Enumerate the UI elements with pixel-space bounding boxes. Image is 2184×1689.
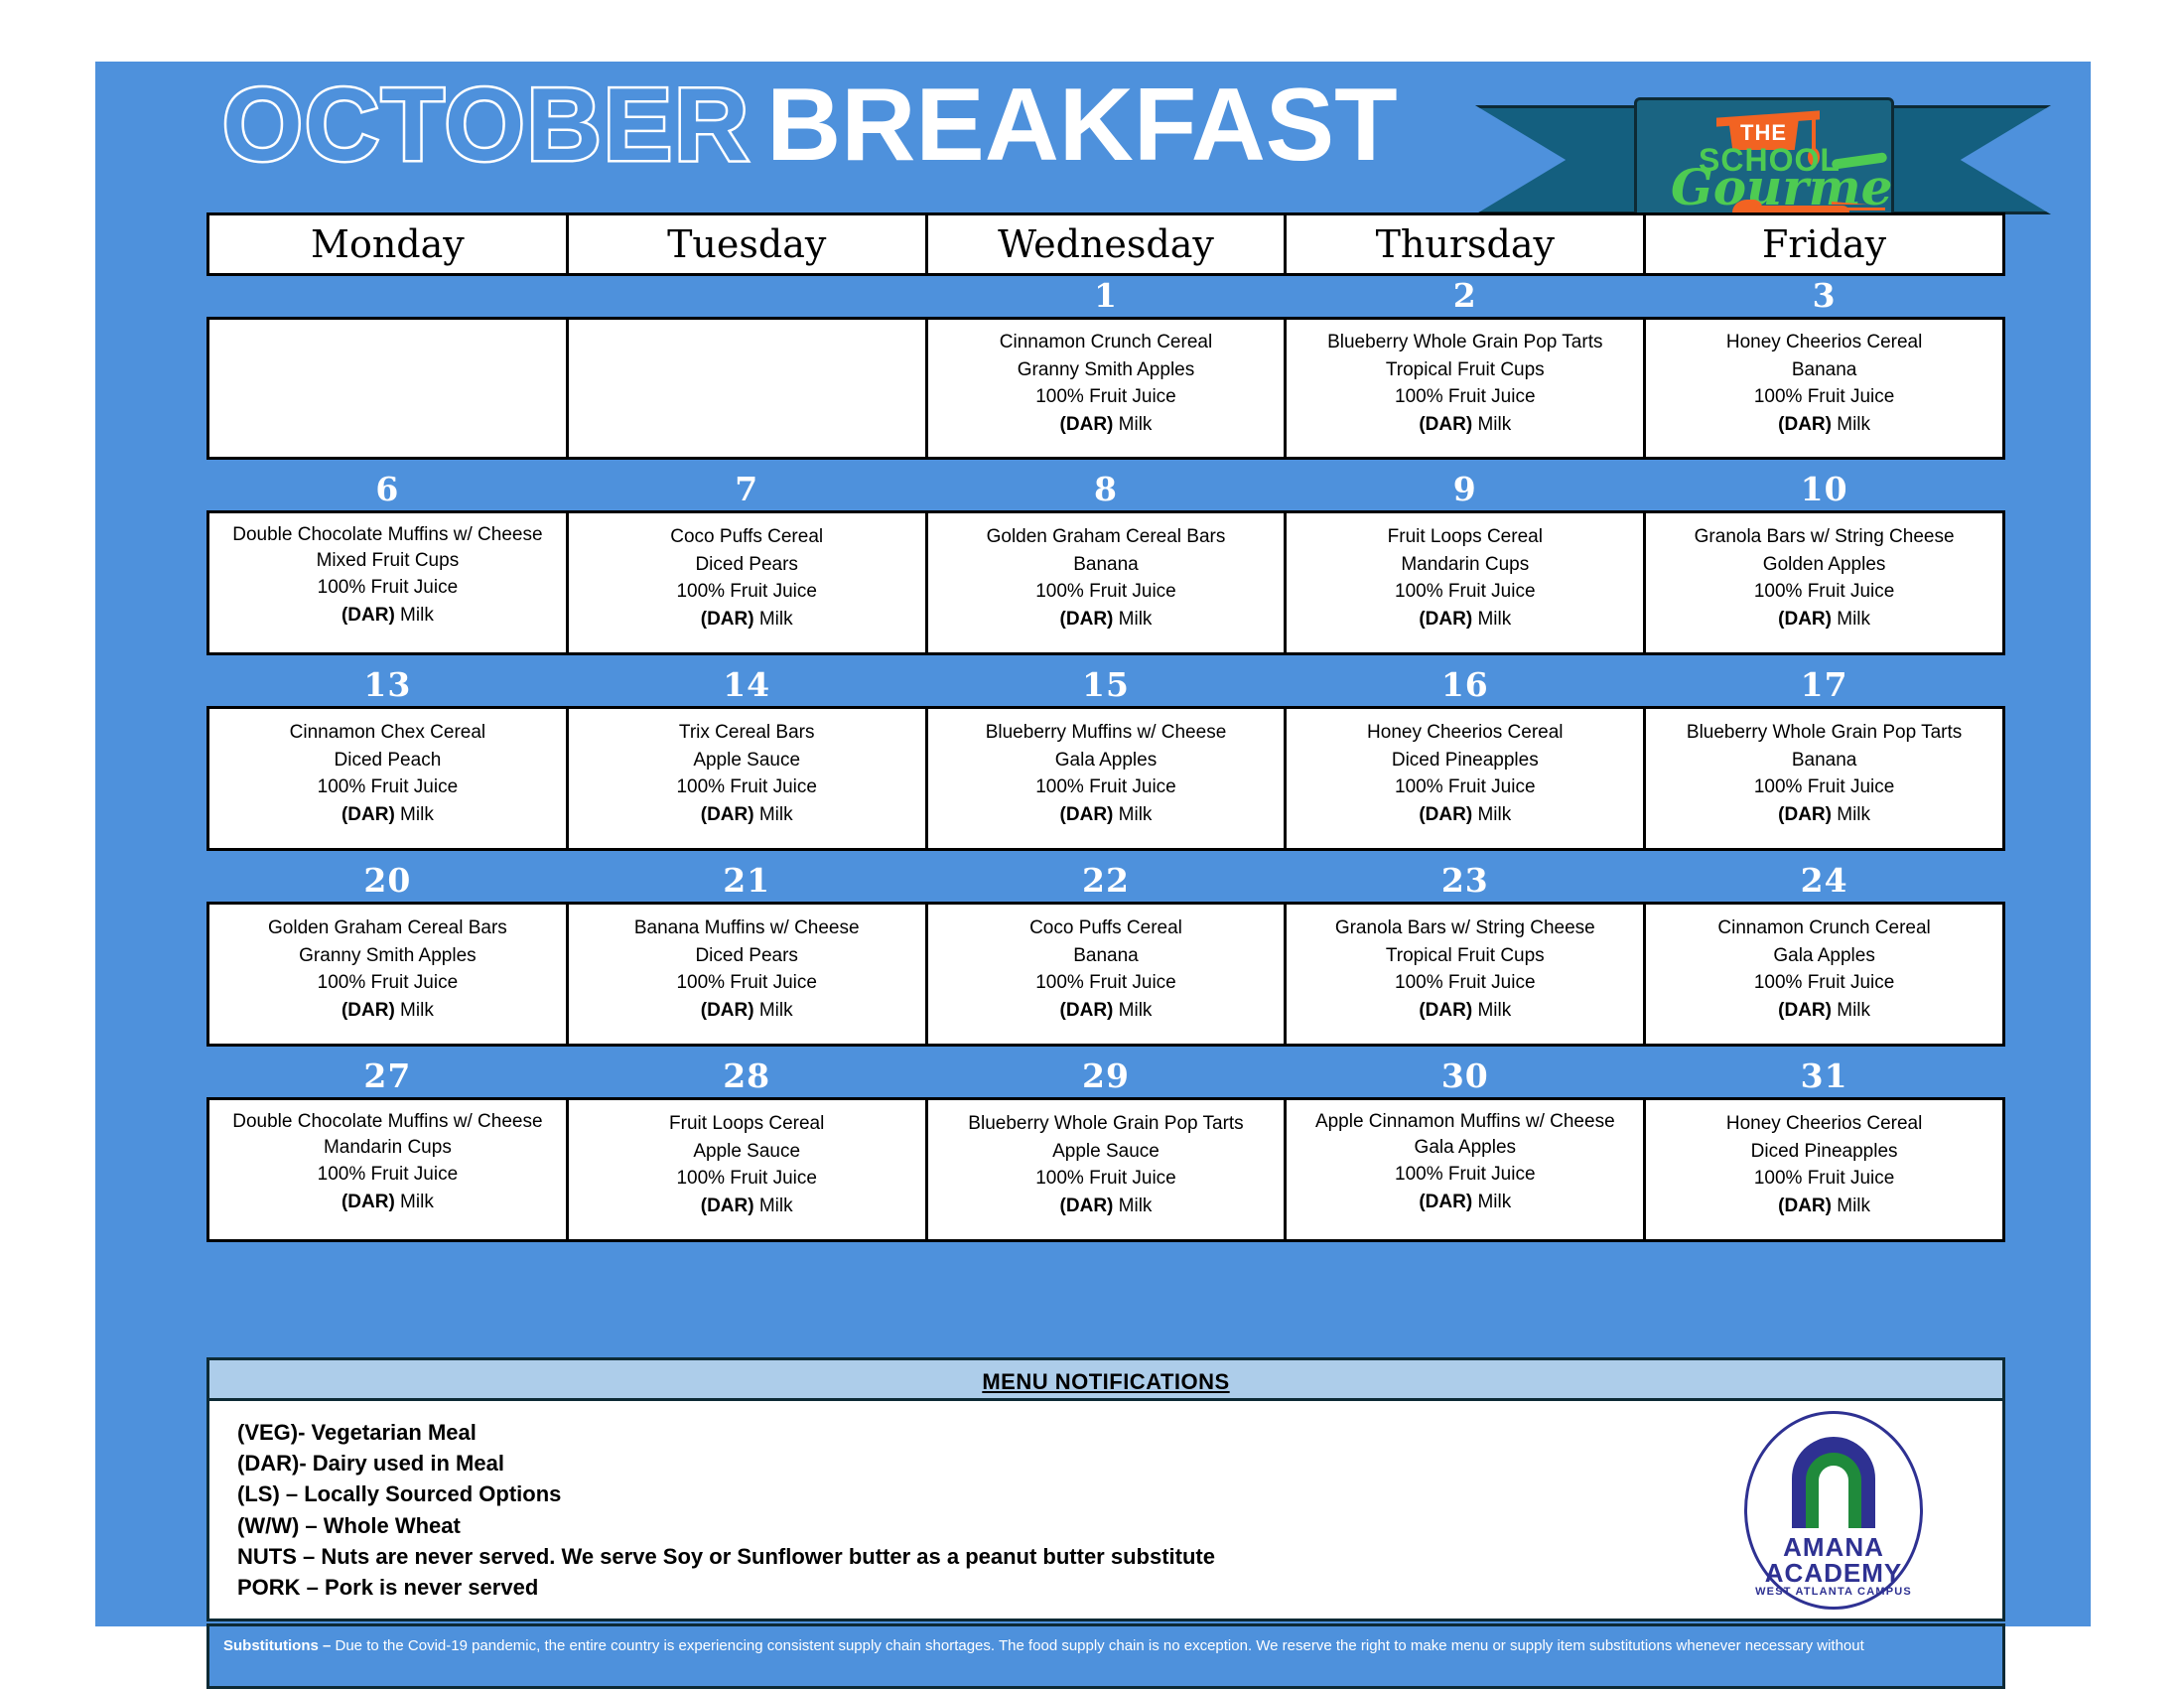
menu-item-line: (DAR) Milk xyxy=(1652,997,1996,1025)
menu-item-line: (DAR) Milk xyxy=(1293,997,1637,1025)
menu-item-line: Apple Sauce xyxy=(934,1138,1279,1166)
diet-tag: (DAR) xyxy=(1419,1000,1472,1021)
menu-item-line: (DAR) Milk xyxy=(934,606,1279,633)
menu-item-line: Granola Bars w/ String Cheese xyxy=(1293,915,1637,942)
date-number-13: 13 xyxy=(208,665,568,708)
date-number-27: 27 xyxy=(208,1056,568,1099)
menu-item-line: (DAR) Milk xyxy=(215,801,560,829)
menu-item-line: (DAR) Milk xyxy=(1652,606,1996,633)
menu-item-line: (DAR) Milk xyxy=(1293,801,1637,829)
menu-week-row: Double Chocolate Muffins w/ CheeseMandar… xyxy=(208,1099,2004,1241)
date-number-row: 678910 xyxy=(208,470,2004,512)
menu-week-row: Golden Graham Cereal BarsGranny Smith Ap… xyxy=(208,904,2004,1046)
menu-cell-30: Apple Cinnamon Muffins w/ CheeseGala App… xyxy=(1286,1099,1645,1241)
diet-tag: (DAR) xyxy=(1419,414,1472,435)
calendar-table: MondayTuesdayWednesdayThursdayFriday123C… xyxy=(206,212,2005,1242)
date-number-7: 7 xyxy=(567,470,926,512)
title-meal: BREAKFAST xyxy=(766,68,1398,183)
menu-item-line: 100% Fruit Juice xyxy=(1293,578,1637,606)
menu-item-line: Golden Graham Cereal Bars xyxy=(215,915,560,942)
menu-item-line: Apple Sauce xyxy=(575,1138,919,1166)
diet-tag: (DAR) xyxy=(1419,804,1472,825)
menu-item-line: Gala Apples xyxy=(1293,1134,1637,1162)
diet-tag: (DAR) xyxy=(701,609,754,630)
weekday-header-friday: Friday xyxy=(1645,214,2004,275)
weekday-header-monday: Monday xyxy=(208,214,568,275)
menu-cell-content: Blueberry Whole Grain Pop TartsApple Sau… xyxy=(934,1110,1279,1229)
menu-item-line: Tropical Fruit Cups xyxy=(1293,942,1637,970)
menu-item-line: 100% Fruit Juice xyxy=(215,1161,560,1189)
seal-line-3: WEST ATLANTA CAMPUS xyxy=(1744,1586,1923,1598)
date-number-8: 8 xyxy=(926,470,1286,512)
date-number-2: 2 xyxy=(1286,275,1645,319)
menu-cell-content: Blueberry Whole Grain Pop TartsBanana100… xyxy=(1652,719,1996,838)
week-gap xyxy=(208,459,2004,471)
menu-notifications-title: MENU NOTIFICATIONS xyxy=(982,1369,1229,1394)
date-number-28: 28 xyxy=(567,1056,926,1099)
menu-item-line: 100% Fruit Juice xyxy=(934,383,1279,411)
menu-item-line: Blueberry Whole Grain Pop Tarts xyxy=(934,1110,1279,1138)
date-number-22: 22 xyxy=(926,861,1286,904)
menu-item-line: (DAR) Milk xyxy=(575,606,919,633)
menu-item-line: (DAR) Milk xyxy=(575,801,919,829)
menu-cell-8: Golden Graham Cereal BarsBanana100% Frui… xyxy=(926,512,1286,654)
menu-cell-13: Cinnamon Chex CerealDiced Peach100% Frui… xyxy=(208,708,568,850)
menu-notifications-body: (VEG)- Vegetarian Meal(DAR)- Dairy used … xyxy=(206,1401,2005,1621)
menu-cell-28: Fruit Loops CerealApple Sauce100% Fruit … xyxy=(567,1099,926,1241)
menu-item-line: 100% Fruit Juice xyxy=(1652,774,1996,801)
menu-item-line: 100% Fruit Juice xyxy=(934,969,1279,997)
menu-item-line: 100% Fruit Juice xyxy=(575,1165,919,1193)
diet-tag: (DAR) xyxy=(341,605,395,626)
title-month: OCTOBER xyxy=(222,68,751,183)
weekday-header-wednesday: Wednesday xyxy=(926,214,1286,275)
menu-cell-content: Double Chocolate Muffins w/ CheeseMandar… xyxy=(215,1110,560,1229)
menu-item-line: Cinnamon Chex Cereal xyxy=(215,719,560,747)
menu-item-line: (DAR) Milk xyxy=(1652,1193,1996,1220)
menu-item-line: 100% Fruit Juice xyxy=(1652,578,1996,606)
poster-header: OCTOBERBREAKFAST THE SCHOOL Gourmet xyxy=(95,62,2091,211)
notification-item: (DAR)- Dairy used in Meal xyxy=(237,1448,2002,1478)
menu-cell-content: Banana Muffins w/ CheeseDiced Pears100% … xyxy=(575,915,919,1034)
weekday-header-tuesday: Tuesday xyxy=(567,214,926,275)
menu-item-line: Honey Cheerios Cereal xyxy=(1652,329,1996,356)
menu-item-line: Blueberry Muffins w/ Cheese xyxy=(934,719,1279,747)
week-gap xyxy=(208,850,2004,862)
menu-cell-22: Coco Puffs CerealBanana100% Fruit Juice(… xyxy=(926,904,1286,1046)
substitutions-label: Substitutions – xyxy=(223,1637,331,1654)
menu-cell-content: Fruit Loops CerealApple Sauce100% Fruit … xyxy=(575,1110,919,1229)
menu-item-line: Diced Pineapples xyxy=(1293,747,1637,774)
menu-item-line: Coco Puffs Cereal xyxy=(575,523,919,551)
menu-item-line: Blueberry Whole Grain Pop Tarts xyxy=(1293,329,1637,356)
menu-item-line: (DAR) Milk xyxy=(1652,411,1996,439)
menu-item-line: (DAR) Milk xyxy=(575,997,919,1025)
menu-item-line: 100% Fruit Juice xyxy=(215,969,560,997)
date-number-23: 23 xyxy=(1286,861,1645,904)
menu-cell-2: Blueberry Whole Grain Pop TartsTropical … xyxy=(1286,319,1645,459)
menu-cell-7: Coco Puffs CerealDiced Pears100% Fruit J… xyxy=(567,512,926,654)
menu-item-line: 100% Fruit Juice xyxy=(575,774,919,801)
date-number-3: 3 xyxy=(1645,275,2004,319)
date-number-14: 14 xyxy=(567,665,926,708)
date-number-20: 20 xyxy=(208,861,568,904)
menu-cell-24: Cinnamon Crunch CerealGala Apples100% Fr… xyxy=(1645,904,2004,1046)
diet-tag: (DAR) xyxy=(1060,609,1114,630)
menu-item-line: Coco Puffs Cereal xyxy=(934,915,1279,942)
menu-cell-content: Coco Puffs CerealBanana100% Fruit Juice(… xyxy=(934,915,1279,1034)
date-number-row: 1314151617 xyxy=(208,665,2004,708)
menu-item-line: (DAR) Milk xyxy=(215,997,560,1025)
notification-item: (LS) – Locally Sourced Options xyxy=(237,1478,2002,1509)
menu-item-line: Banana xyxy=(1652,747,1996,774)
menu-item-line: Banana xyxy=(934,942,1279,970)
menu-item-line: 100% Fruit Juice xyxy=(215,574,560,602)
menu-notifications-list: (VEG)- Vegetarian Meal(DAR)- Dairy used … xyxy=(237,1417,2002,1603)
menu-item-line: Banana xyxy=(1652,356,1996,384)
diet-tag: (DAR) xyxy=(1778,1196,1832,1216)
menu-notifications: MENU NOTIFICATIONS (VEG)- Vegetarian Mea… xyxy=(206,1357,2005,1621)
diet-tag: (DAR) xyxy=(1778,609,1832,630)
menu-cell-17: Blueberry Whole Grain Pop TartsBanana100… xyxy=(1645,708,2004,850)
date-number-30: 30 xyxy=(1286,1056,1645,1099)
menu-item-line: (DAR) Milk xyxy=(934,1193,1279,1220)
menu-cell-content: Coco Puffs CerealDiced Pears100% Fruit J… xyxy=(575,523,919,642)
menu-cell-content: Double Chocolate Muffins w/ CheeseMixed … xyxy=(215,523,560,642)
menu-item-line: Banana xyxy=(934,551,1279,579)
date-number-10: 10 xyxy=(1645,470,2004,512)
menu-cell-content: Trix Cereal BarsApple Sauce100% Fruit Ju… xyxy=(575,719,919,838)
diet-tag: (DAR) xyxy=(1778,804,1832,825)
date-number-24: 24 xyxy=(1645,861,2004,904)
menu-item-line: Apple Cinnamon Muffins w/ Cheese xyxy=(1293,1110,1637,1134)
menu-item-line: (DAR) Milk xyxy=(215,602,560,630)
menu-item-line: 100% Fruit Juice xyxy=(1293,774,1637,801)
diet-tag: (DAR) xyxy=(341,1192,395,1212)
menu-item-line: Gala Apples xyxy=(1652,942,1996,970)
menu-item-line: (DAR) Milk xyxy=(1293,1189,1637,1216)
date-number-6: 6 xyxy=(208,470,568,512)
menu-item-line: Tropical Fruit Cups xyxy=(1293,356,1637,384)
week-gap xyxy=(208,654,2004,666)
menu-item-line: Granny Smith Apples xyxy=(934,356,1279,384)
menu-cell-27: Double Chocolate Muffins w/ CheeseMandar… xyxy=(208,1099,568,1241)
menu-cell-content: Blueberry Whole Grain Pop TartsTropical … xyxy=(1293,329,1637,448)
menu-item-line: (DAR) Milk xyxy=(1293,606,1637,633)
menu-week-row: Cinnamon Crunch CerealGranny Smith Apple… xyxy=(208,319,2004,459)
notification-item: PORK – Pork is never served xyxy=(237,1572,2002,1603)
menu-cell-content: Cinnamon Crunch CerealGranny Smith Apple… xyxy=(934,329,1279,448)
menu-item-line: (DAR) Milk xyxy=(1293,411,1637,439)
diet-tag: (DAR) xyxy=(1419,1192,1472,1212)
menu-item-line: Granola Bars w/ String Cheese xyxy=(1652,523,1996,551)
menu-item-line: Apple Sauce xyxy=(575,747,919,774)
date-number-row: 2728293031 xyxy=(208,1056,2004,1099)
menu-item-line: (DAR) Milk xyxy=(575,1193,919,1220)
date-number-15: 15 xyxy=(926,665,1286,708)
menu-cell-21: Banana Muffins w/ CheeseDiced Pears100% … xyxy=(567,904,926,1046)
menu-item-line: Honey Cheerios Cereal xyxy=(1293,719,1637,747)
date-number-17: 17 xyxy=(1645,665,2004,708)
weekday-header-thursday: Thursday xyxy=(1286,214,1645,275)
seal-line-2: ACADEMY xyxy=(1744,1558,1923,1589)
menu-item-line: Cinnamon Crunch Cereal xyxy=(934,329,1279,356)
menu-item-line: (DAR) Milk xyxy=(934,411,1279,439)
menu-item-line: 100% Fruit Juice xyxy=(1293,383,1637,411)
substitutions-notice: Substitutions – Due to the Covid-19 pand… xyxy=(206,1623,2005,1689)
menu-item-line: 100% Fruit Juice xyxy=(215,774,560,801)
menu-cell-content: Honey Cheerios CerealDiced Pineapples100… xyxy=(1652,1110,1996,1229)
menu-cell-content: Blueberry Muffins w/ CheeseGala Apples10… xyxy=(934,719,1279,838)
menu-notifications-header: MENU NOTIFICATIONS xyxy=(206,1357,2005,1401)
menu-cell-14: Trix Cereal BarsApple Sauce100% Fruit Ju… xyxy=(567,708,926,850)
menu-cell-9: Fruit Loops CerealMandarin Cups100% Frui… xyxy=(1286,512,1645,654)
diet-tag: (DAR) xyxy=(341,1000,395,1021)
menu-week-row: Cinnamon Chex CerealDiced Peach100% Frui… xyxy=(208,708,2004,850)
menu-item-line: 100% Fruit Juice xyxy=(1652,1165,1996,1193)
diet-tag: (DAR) xyxy=(1778,414,1832,435)
menu-cell-content: Cinnamon Chex CerealDiced Peach100% Frui… xyxy=(215,719,560,838)
diet-tag: (DAR) xyxy=(1060,804,1114,825)
menu-item-line: Gala Apples xyxy=(934,747,1279,774)
menu-item-line: Mandarin Cups xyxy=(215,1134,560,1162)
menu-cell-1: Cinnamon Crunch CerealGranny Smith Apple… xyxy=(926,319,1286,459)
menu-item-line: Banana Muffins w/ Cheese xyxy=(575,915,919,942)
menu-item-line: 100% Fruit Juice xyxy=(575,969,919,997)
menu-item-line: Cinnamon Crunch Cereal xyxy=(1652,915,1996,942)
menu-item-line: Diced Peach xyxy=(215,747,560,774)
menu-cell-content: Honey Cheerios CerealDiced Pineapples100… xyxy=(1293,719,1637,838)
menu-item-line: Honey Cheerios Cereal xyxy=(1652,1110,1996,1138)
menu-item-line: 100% Fruit Juice xyxy=(575,578,919,606)
menu-cell-29: Blueberry Whole Grain Pop TartsApple Sau… xyxy=(926,1099,1286,1241)
date-number-21: 21 xyxy=(567,861,926,904)
date-number-29: 29 xyxy=(926,1056,1286,1099)
date-number-9: 9 xyxy=(1286,470,1645,512)
notification-item: NUTS – Nuts are never served. We serve S… xyxy=(237,1541,2002,1572)
diet-tag: (DAR) xyxy=(341,804,395,825)
menu-item-line: Fruit Loops Cereal xyxy=(575,1110,919,1138)
menu-item-line: 100% Fruit Juice xyxy=(1293,1161,1637,1189)
diet-tag: (DAR) xyxy=(701,1000,754,1021)
diet-tag: (DAR) xyxy=(1060,414,1114,435)
menu-item-line: 100% Fruit Juice xyxy=(1652,383,1996,411)
menu-item-line: 100% Fruit Juice xyxy=(934,774,1279,801)
menu-cell-6: Double Chocolate Muffins w/ CheeseMixed … xyxy=(208,512,568,654)
menu-item-line: Mixed Fruit Cups xyxy=(215,547,560,575)
substitutions-text: Substitutions – Due to the Covid-19 pand… xyxy=(223,1634,1990,1659)
menu-item-line: Double Chocolate Muffins w/ Cheese xyxy=(215,523,560,547)
menu-cell-23: Granola Bars w/ String CheeseTropical Fr… xyxy=(1286,904,1645,1046)
menu-cell-empty xyxy=(208,319,568,459)
diet-tag: (DAR) xyxy=(701,804,754,825)
menu-cell-content: Golden Graham Cereal BarsBanana100% Frui… xyxy=(934,523,1279,642)
calendar: MondayTuesdayWednesdayThursdayFriday123C… xyxy=(206,212,2005,1242)
notification-item: (W/W) – Whole Wheat xyxy=(237,1510,2002,1541)
page-title: OCTOBERBREAKFAST xyxy=(222,73,1398,177)
menu-item-line: Diced Pineapples xyxy=(1652,1138,1996,1166)
date-number-row: 123 xyxy=(208,275,2004,319)
diet-tag: (DAR) xyxy=(701,1196,754,1216)
diet-tag: (DAR) xyxy=(1060,1000,1114,1021)
menu-item-line: 100% Fruit Juice xyxy=(934,578,1279,606)
date-number-empty xyxy=(208,275,568,319)
menu-item-line: Golden Apples xyxy=(1652,551,1996,579)
menu-item-line: Golden Graham Cereal Bars xyxy=(934,523,1279,551)
date-number-16: 16 xyxy=(1286,665,1645,708)
menu-item-line: 100% Fruit Juice xyxy=(1293,969,1637,997)
menu-cell-empty xyxy=(567,319,926,459)
date-number-1: 1 xyxy=(926,275,1286,319)
menu-poster: OCTOBERBREAKFAST THE SCHOOL Gourmet Mond… xyxy=(95,62,2091,1626)
menu-cell-content: Honey Cheerios CerealBanana100% Fruit Ju… xyxy=(1652,329,1996,448)
menu-cell-16: Honey Cheerios CerealDiced Pineapples100… xyxy=(1286,708,1645,850)
amana-academy-logo: AMANA ACADEMY WEST ATLANTA CAMPUS xyxy=(1744,1411,1923,1610)
menu-item-line: (DAR) Milk xyxy=(934,997,1279,1025)
menu-item-line: Trix Cereal Bars xyxy=(575,719,919,747)
menu-item-line: Blueberry Whole Grain Pop Tarts xyxy=(1652,719,1996,747)
date-number-31: 31 xyxy=(1645,1056,2004,1099)
menu-cell-content: Granola Bars w/ String CheeseTropical Fr… xyxy=(1293,915,1637,1034)
date-number-empty xyxy=(567,275,926,319)
menu-item-line: (DAR) Milk xyxy=(1652,801,1996,829)
menu-cell-15: Blueberry Muffins w/ CheeseGala Apples10… xyxy=(926,708,1286,850)
menu-cell-content: Golden Graham Cereal BarsGranny Smith Ap… xyxy=(215,915,560,1034)
menu-item-line: 100% Fruit Juice xyxy=(934,1165,1279,1193)
week-gap xyxy=(208,1046,2004,1057)
menu-item-line: (DAR) Milk xyxy=(934,801,1279,829)
menu-cell-content: Cinnamon Crunch CerealGala Apples100% Fr… xyxy=(1652,915,1996,1034)
menu-cell-10: Granola Bars w/ String CheeseGolden Appl… xyxy=(1645,512,2004,654)
menu-cell-3: Honey Cheerios CerealBanana100% Fruit Ju… xyxy=(1645,319,2004,459)
menu-cell-20: Golden Graham Cereal BarsGranny Smith Ap… xyxy=(208,904,568,1046)
menu-item-line: Diced Pears xyxy=(575,551,919,579)
diet-tag: (DAR) xyxy=(1419,609,1472,630)
menu-item-line: 100% Fruit Juice xyxy=(1652,969,1996,997)
diet-tag: (DAR) xyxy=(1778,1000,1832,1021)
menu-item-line: Diced Pears xyxy=(575,942,919,970)
menu-item-line: Double Chocolate Muffins w/ Cheese xyxy=(215,1110,560,1134)
menu-cell-content: Apple Cinnamon Muffins w/ CheeseGala App… xyxy=(1293,1110,1637,1229)
diet-tag: (DAR) xyxy=(1060,1196,1114,1216)
substitutions-body: Due to the Covid-19 pandemic, the entire… xyxy=(331,1637,1863,1654)
menu-cell-31: Honey Cheerios CerealDiced Pineapples100… xyxy=(1645,1099,2004,1241)
weekday-header-row: MondayTuesdayWednesdayThursdayFriday xyxy=(208,214,2004,275)
menu-item-line: Mandarin Cups xyxy=(1293,551,1637,579)
date-number-row: 2021222324 xyxy=(208,861,2004,904)
menu-cell-content: Fruit Loops CerealMandarin Cups100% Frui… xyxy=(1293,523,1637,642)
menu-week-row: Double Chocolate Muffins w/ CheeseMixed … xyxy=(208,512,2004,654)
menu-item-line: Granny Smith Apples xyxy=(215,942,560,970)
seal-arch-inner-icon xyxy=(1806,1453,1861,1528)
menu-item-line: Fruit Loops Cereal xyxy=(1293,523,1637,551)
notification-item: (VEG)- Vegetarian Meal xyxy=(237,1417,2002,1448)
menu-item-line: (DAR) Milk xyxy=(215,1189,560,1216)
menu-cell-content: Granola Bars w/ String CheeseGolden Appl… xyxy=(1652,523,1996,642)
